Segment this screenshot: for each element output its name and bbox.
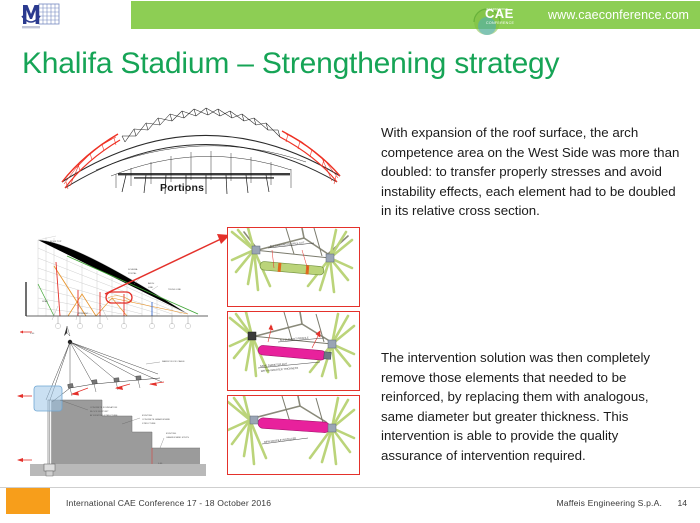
paragraph-expansion-roof-surface: With expansion of the roof surface, the …	[381, 123, 681, 221]
svg-text:EXISTING: EXISTING	[142, 415, 153, 417]
slide-root: CAE CONFERENCE INTERNATIONAL www.caeconf…	[0, 0, 700, 523]
panel-new-profile-installed[interactable]: NEW PROFILE INSTALLED	[227, 395, 360, 475]
mast-cable-detail-drawing: FABRIC ROOF CABLE CONCRETE FOUNDATION BL…	[12, 338, 218, 484]
footer-conference-info: International CAE Conference 17 - 18 Oct…	[66, 498, 271, 508]
svg-text:GRANDSTAND STEPS: GRANDSTAND STEPS	[166, 436, 189, 439]
svg-text:CONFERENCE: CONFERENCE	[486, 21, 514, 25]
footer-accent-block	[6, 488, 50, 514]
svg-text:ROOF TOP: ROOF TOP	[50, 241, 62, 243]
svg-text:AT EXISTING STRUCTURE: AT EXISTING STRUCTURE	[90, 414, 118, 417]
arch-figure-caption: Portions	[160, 182, 204, 194]
page-title: Khalifa Stadium – Strengthening strategy	[22, 47, 559, 81]
cae-conference-logo: CAE CONFERENCE INTERNATIONAL	[465, 0, 527, 38]
svg-text:BLOCK SUPPORT: BLOCK SUPPORT	[90, 411, 109, 413]
svg-text:FABRIC ROOF CABLE: FABRIC ROOF CABLE	[162, 360, 185, 363]
maffeis-engineering-logo	[19, 2, 63, 30]
svg-text:CONCRETE FOUNDATION: CONCRETE FOUNDATION	[90, 406, 118, 409]
callout-arrow-to-panel	[95, 222, 245, 312]
svg-text:STRUCTURE: STRUCTURE	[142, 423, 156, 425]
panel-existing-profile-cut[interactable]: N.2 EXISTING PROFILE CUT	[227, 227, 360, 307]
conference-website-url[interactable]: www.caeconference.com	[548, 8, 689, 22]
footer-page-number: 14	[677, 498, 687, 508]
svg-text:INTERNATIONAL: INTERNATIONAL	[486, 7, 510, 11]
paragraph-intervention-solution: The intervention solution was then compl…	[381, 348, 681, 466]
panel-new-element-insert[interactable]: N.2 ELEMENT PROFILE SAME DIAMETER BUT WI…	[227, 311, 360, 391]
svg-text:SPAN: SPAN	[42, 300, 48, 303]
svg-text:CONCRETE GRANDSTAND: CONCRETE GRANDSTAND	[142, 418, 170, 421]
footer-company-name: Maffeis Engineering S.p.A.	[557, 498, 663, 508]
svg-text:EXISTING: EXISTING	[166, 433, 177, 435]
svg-text:ELEMENT: ELEMENT	[78, 313, 89, 315]
slide-header: CAE CONFERENCE INTERNATIONAL www.caeconf…	[0, 0, 700, 31]
footer-divider	[0, 487, 700, 488]
